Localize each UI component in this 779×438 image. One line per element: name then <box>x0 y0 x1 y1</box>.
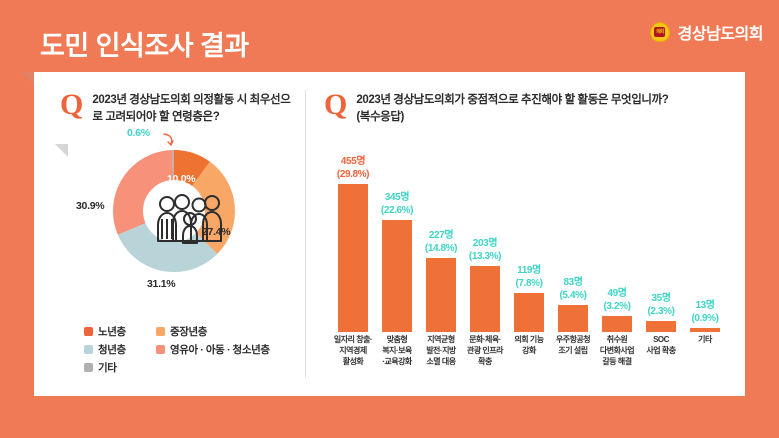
bar-category-label: 맞춤형복지·보육·교육강화 <box>377 334 417 378</box>
legend-item-children[interactable]: 영유아 · 아동 · 청소년층 <box>156 342 270 357</box>
legend-label-etc: 기타 <box>98 360 117 375</box>
bar-column[interactable]: 83명(5.4%) <box>558 277 588 332</box>
emblem-core-text: 의회 <box>654 27 665 37</box>
bar-count: 455명 <box>341 156 365 167</box>
legend-row-3: 기타 <box>84 360 304 375</box>
pie-chart: 0.6% 10.0% 27.4% 31.1% 30.9% <box>54 132 294 317</box>
pie-label-elderly: 30.9% <box>76 200 104 212</box>
bar-value-label: 227명(14.8%) <box>425 230 457 255</box>
legend-row-1: 노년층 중장년층 <box>84 324 304 339</box>
pie-label-etc: 0.6% <box>127 127 150 139</box>
bar-column[interactable]: 13명(0.9%) <box>690 300 720 332</box>
bar-category-text: 일자리 창출·지역경제활성화 <box>333 334 373 368</box>
bar-category-label: 의회 기능강화 <box>509 334 549 378</box>
q-mark-icon: Q <box>60 92 83 125</box>
bar-category-text: 문화·체육·관광 인프라확충 <box>465 334 505 368</box>
bar-column[interactable]: 455명(29.8%) <box>338 156 368 332</box>
bar-count: 49명 <box>607 288 626 299</box>
legend-item-middleage[interactable]: 중장년층 <box>156 324 207 339</box>
bar-category-label: 문화·체육·관광 인프라확충 <box>465 334 505 378</box>
bar-category-label: SOC사업 확충 <box>641 334 681 378</box>
family-group-icon <box>154 191 226 253</box>
bar-category-label: 지역균형발전·지방소멸 대응 <box>421 334 461 378</box>
legend-label-middleage: 중장년층 <box>170 324 207 339</box>
bar-count: 13명 <box>695 300 714 311</box>
bar-category-text: SOC사업 확충 <box>641 334 681 356</box>
bar-category-label: 취수원다변화사업갈등 해결 <box>597 334 637 378</box>
legend-label-children: 영유아 · 아동 · 청소년층 <box>170 342 270 357</box>
bar-column[interactable]: 119명(7.8%) <box>514 265 544 332</box>
bar-value-label: 83명(5.4%) <box>559 277 586 302</box>
question-right-line2: (복수응답) <box>356 109 668 126</box>
bar-count: 35명 <box>651 293 670 304</box>
bar-percent: (7.8%) <box>515 278 542 289</box>
brand-logo: 의회 경상남도의회 <box>649 20 763 44</box>
bar-rect[interactable] <box>602 316 632 332</box>
header-bar: 도민 인식조사 결과 의회 경상남도의회 <box>0 0 779 72</box>
bar-category-text: 우주항공청조기 설립 <box>553 334 593 356</box>
legend-label-elderly: 노년층 <box>98 324 126 339</box>
pie-legend: 노년층 중장년층 청년층 영유아 · 아동 · 청소년층 기타 <box>84 324 304 378</box>
question-left: Q 2023년 경상남도의회 의정활동 시 최우선으로 고려되어야 할 연령층은… <box>60 92 300 125</box>
pie-label-children: 27.4% <box>202 226 230 238</box>
bar-rect[interactable] <box>558 305 588 332</box>
question-right-line1: 2023년 경상남도의회가 중점적으로 추진해야 할 활동은 무엇입니까? <box>356 92 668 109</box>
bar-column[interactable]: 49명(3.2%) <box>602 288 632 332</box>
legend-swatch-elderly <box>84 327 93 336</box>
bar-percent: (5.4%) <box>559 290 586 301</box>
bar-count: 83명 <box>563 277 582 288</box>
bar-rect[interactable] <box>338 184 368 332</box>
pointer-arrow-icon <box>162 132 178 150</box>
bar-category-text: 지역균형발전·지방소멸 대응 <box>421 334 461 368</box>
bar-rect[interactable] <box>514 293 544 332</box>
bar-category-text: 취수원다변화사업갈등 해결 <box>597 334 637 368</box>
bar-count: 345명 <box>385 192 409 203</box>
bar-percent: (14.8%) <box>425 243 457 254</box>
panel-divider <box>305 90 306 378</box>
bar-value-label: 455명(29.8%) <box>337 156 369 181</box>
legend-item-elderly[interactable]: 노년층 <box>84 324 146 339</box>
legend-item-etc[interactable]: 기타 <box>84 360 146 375</box>
bar-category-label: 우주항공청조기 설립 <box>553 334 593 378</box>
bar-count: 227명 <box>429 230 453 241</box>
bar-value-label: 119명(7.8%) <box>515 265 542 290</box>
bar-value-label: 203명(13.3%) <box>469 238 501 263</box>
bar-category-text: 의회 기능강화 <box>509 334 549 356</box>
legend-row-2: 청년층 영유아 · 아동 · 청소년층 <box>84 342 304 357</box>
legend-swatch-children <box>156 345 165 354</box>
bar-category-label: 기타 <box>685 334 725 378</box>
page-title: 도민 인식조사 결과 <box>40 24 249 63</box>
bar-percent: (3.2%) <box>603 301 630 312</box>
bar-percent: (2.3%) <box>647 306 674 317</box>
bar-value-label: 35명(2.3%) <box>647 293 674 318</box>
bar-percent: (29.8%) <box>337 169 369 180</box>
assembly-emblem-icon: 의회 <box>649 21 671 43</box>
bar-count: 119명 <box>517 265 541 276</box>
pie-label-youth: 31.1% <box>147 278 175 290</box>
bar-column[interactable]: 227명(14.8%) <box>426 230 456 332</box>
legend-swatch-youth <box>84 345 93 354</box>
bar-category-label: 일자리 창출·지역경제활성화 <box>333 334 373 378</box>
legend-swatch-middleage <box>156 327 165 336</box>
bar-percent: (22.6%) <box>381 205 413 216</box>
legend-label-youth: 청년층 <box>98 342 126 357</box>
bar-column[interactable]: 203명(13.3%) <box>470 238 500 332</box>
bar-category-text: 기타 <box>685 334 725 345</box>
question-right: Q 2023년 경상남도의회가 중점적으로 추진해야 할 활동은 무엇입니까? … <box>324 92 754 125</box>
bar-percent: (13.3%) <box>469 251 501 262</box>
bar-rect[interactable] <box>646 321 676 332</box>
bar-category-text: 맞춤형복지·보육·교육강화 <box>377 334 417 368</box>
bar-rect[interactable] <box>382 220 412 332</box>
bar-column[interactable]: 345명(22.6%) <box>382 192 412 332</box>
legend-item-youth[interactable]: 청년층 <box>84 342 146 357</box>
pie-label-middleage: 10.0% <box>167 173 195 185</box>
bar-rect[interactable] <box>426 258 456 332</box>
bar-value-label: 13명(0.9%) <box>691 300 718 325</box>
bar-column[interactable]: 35명(2.3%) <box>646 293 676 332</box>
bar-value-label: 49명(3.2%) <box>603 288 630 313</box>
bar-chart: 455명(29.8%)일자리 창출·지역경제활성화345명(22.6%)맞춤형복… <box>324 132 744 378</box>
bar-rect[interactable] <box>690 328 720 332</box>
bar-value-label: 345명(22.6%) <box>381 192 413 217</box>
bar-percent: (0.9%) <box>691 313 718 324</box>
brand-name: 경상남도의회 <box>678 20 763 44</box>
q-mark-icon-right: Q <box>324 92 347 125</box>
content-card: Q 2023년 경상남도의회 의정활동 시 최우선으로 고려되어야 할 연령층은… <box>34 72 745 396</box>
question-left-text: 2023년 경상남도의회 의정활동 시 최우선으로 고려되어야 할 연령층은? <box>92 92 300 125</box>
bar-count: 203명 <box>473 238 497 249</box>
card-fold-shadow <box>21 72 34 85</box>
bar-rect[interactable] <box>470 266 500 332</box>
legend-swatch-etc <box>84 363 93 372</box>
